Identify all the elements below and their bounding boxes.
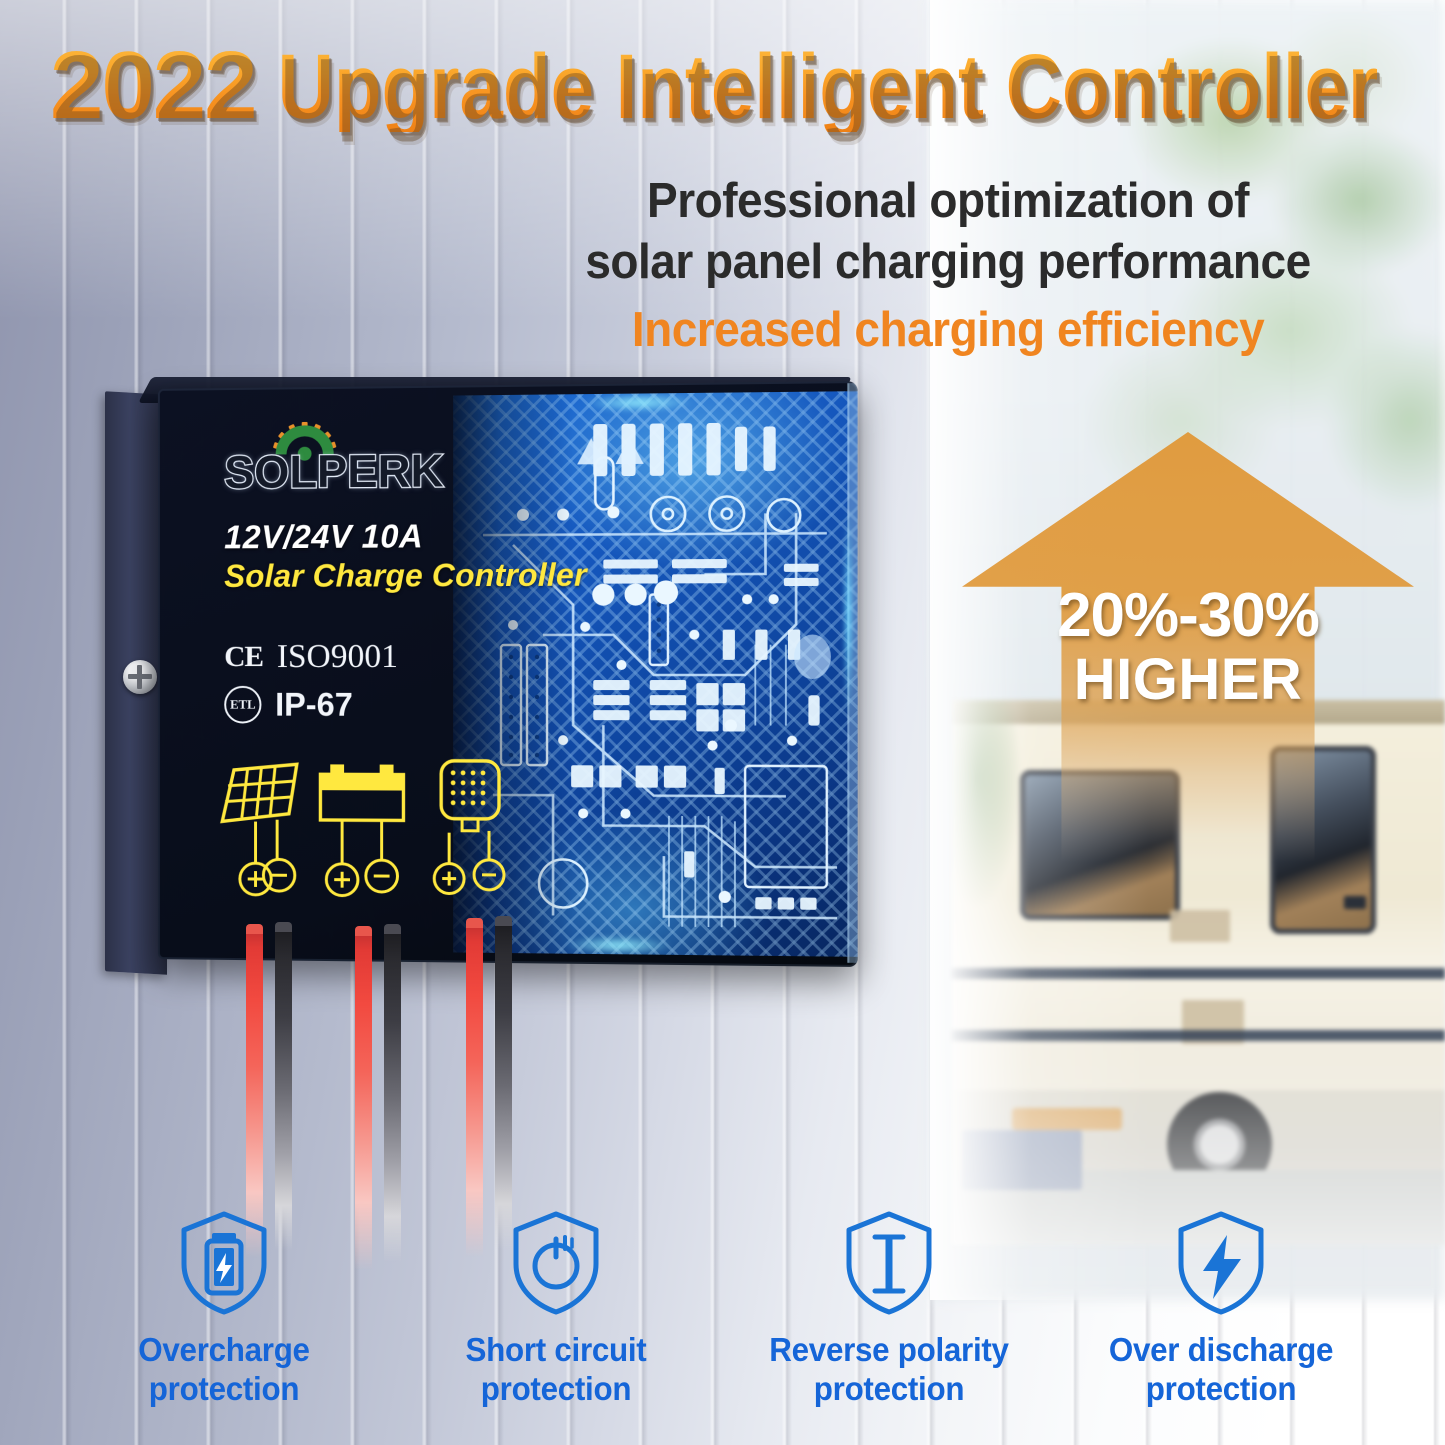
device-spec: 12V/24V 10A	[224, 517, 521, 556]
terminal-icon-row	[216, 752, 543, 933]
headline: 2022 Upgrade Intelligent Controller	[0, 30, 1445, 142]
product-marketing-image: 2022 Upgrade Intelligent Controller Prof…	[0, 0, 1445, 1445]
subhead-line-1: Professional optimization of	[493, 168, 1403, 233]
feature-line1: Short circuit	[466, 1331, 647, 1368]
efficiency-arrow-badge: 20%-30% HIGHER	[962, 432, 1414, 862]
battery-terminal-icon	[320, 764, 403, 896]
ip-rating-label: IP-67	[275, 686, 353, 724]
feature-overcharge: Overcharge protection	[84, 1207, 364, 1409]
arrow-badge-text: 20%-30% HIGHER	[962, 584, 1414, 712]
subhead-line-2: solar panel charging performance	[493, 229, 1403, 294]
headline-text: Upgrade Intelligent Controller	[278, 40, 1379, 132]
shield-power-icon	[416, 1207, 696, 1319]
certifications: CE ISO9001 ETL IP-67	[224, 638, 521, 724]
etl-mark-icon: ETL	[224, 686, 261, 724]
subhead-block: Professional optimization of solar panel…	[493, 168, 1403, 359]
feature-label-over-discharge: Over discharge protection	[1088, 1331, 1354, 1409]
badge-word: HIGHER	[962, 648, 1414, 712]
feature-label-overcharge: Overcharge protection	[91, 1331, 357, 1409]
ce-mark-icon: CE	[224, 640, 263, 674]
feature-short-circuit: Short circuit protection	[416, 1207, 696, 1409]
feature-over-discharge: Over discharge protection	[1081, 1207, 1361, 1409]
feature-line2: protection	[813, 1370, 963, 1407]
load-lamp-terminal-icon	[434, 761, 504, 894]
solar-charge-controller: SOLPERK 12V/24V 10A Solar Charge Control…	[105, 385, 905, 985]
device-body: SOLPERK 12V/24V 10A Solar Charge Control…	[158, 381, 858, 967]
subhead-accent: Increased charging efficiency	[493, 297, 1403, 363]
iso-label: ISO9001	[277, 638, 398, 676]
feature-line2: protection	[149, 1370, 299, 1407]
feature-row: Overcharge protection Short circuit prot…	[0, 1207, 1445, 1419]
device-product-name: Solar Charge Controller	[224, 557, 521, 595]
feature-line1: Over discharge	[1109, 1331, 1333, 1368]
feature-line1: Reverse polarity	[769, 1331, 1008, 1368]
cert-row-etl-ip: ETL IP-67	[224, 686, 521, 724]
cover-edge-glow	[843, 462, 853, 766]
feature-line2: protection	[481, 1370, 631, 1407]
device-label: SOLPERK 12V/24V 10A Solar Charge Control…	[224, 421, 521, 734]
led-glow-bottom	[543, 931, 694, 956]
feature-label-short-circuit: Short circuit protection	[423, 1331, 689, 1409]
feature-line2: protection	[1146, 1370, 1296, 1407]
solar-panel-terminal-icon	[222, 764, 297, 895]
headline-year: 2022	[50, 38, 256, 134]
shield-bolt-icon	[1081, 1207, 1361, 1319]
shield-battery-icon	[84, 1207, 364, 1319]
phillips-screw-icon	[123, 660, 157, 694]
brand-logo: SOLPERK	[224, 421, 521, 509]
feature-line1: Overcharge	[138, 1331, 309, 1368]
feature-label-reverse-polarity: Reverse polarity protection	[756, 1331, 1022, 1409]
led-glow-top	[563, 391, 714, 416]
feature-reverse-polarity: Reverse polarity protection	[749, 1207, 1029, 1409]
shield-polarity-icon	[749, 1207, 1029, 1319]
brand-name: SOLPERK	[224, 444, 443, 499]
badge-percent: 20%-30%	[962, 584, 1414, 648]
cert-row-ce-iso: CE ISO9001	[224, 638, 521, 676]
